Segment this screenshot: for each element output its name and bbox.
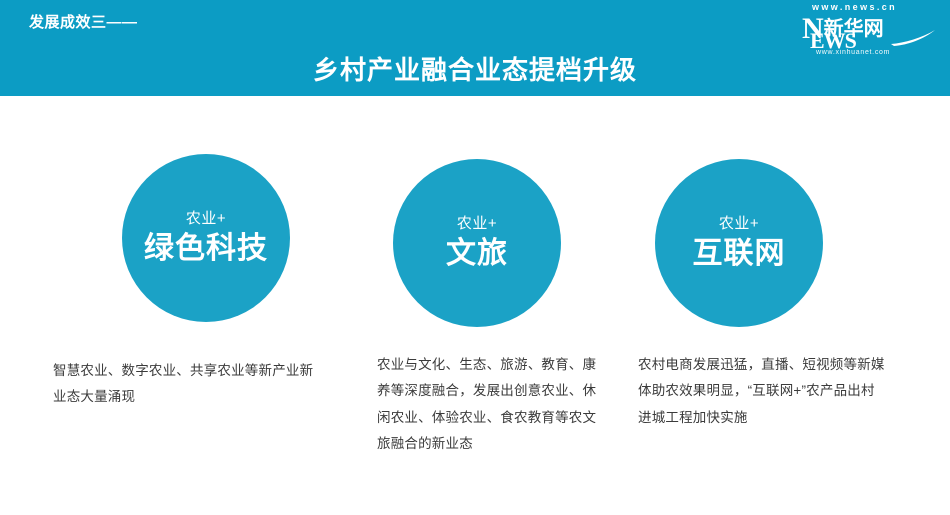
circle-prefix-2: 农业+ — [457, 216, 497, 231]
circle-internet[interactable]: 农业+ 互联网 — [655, 159, 823, 327]
circle-prefix-3: 农业+ — [719, 216, 759, 231]
description-green-technology: 智慧农业、数字农业、共享农业等新产业新业态大量涌现 — [53, 358, 321, 411]
slide-root: 发展成效三—— 乡村产业融合业态提档升级 www.news.cn N 新华网 E… — [0, 0, 950, 515]
circle-label-3: 互联网 — [693, 238, 786, 270]
description-culture-tourism: 农业与文化、生态、旅游、教育、康养等深度融合，发展出创意农业、休闲农业、体验农业… — [377, 352, 609, 457]
circle-green-technology[interactable]: 农业+ 绿色科技 — [122, 154, 290, 322]
circle-label-2: 文旅 — [446, 238, 508, 270]
circle-label-1: 绿色科技 — [144, 233, 268, 265]
circle-culture-tourism[interactable]: 农业+ 文旅 — [393, 159, 561, 327]
circle-prefix-1: 农业+ — [186, 211, 226, 226]
description-internet: 农村电商发展迅猛，直播、短视频等新媒体助农效果明显，“互联网+”农产品出村进城工… — [638, 352, 886, 431]
